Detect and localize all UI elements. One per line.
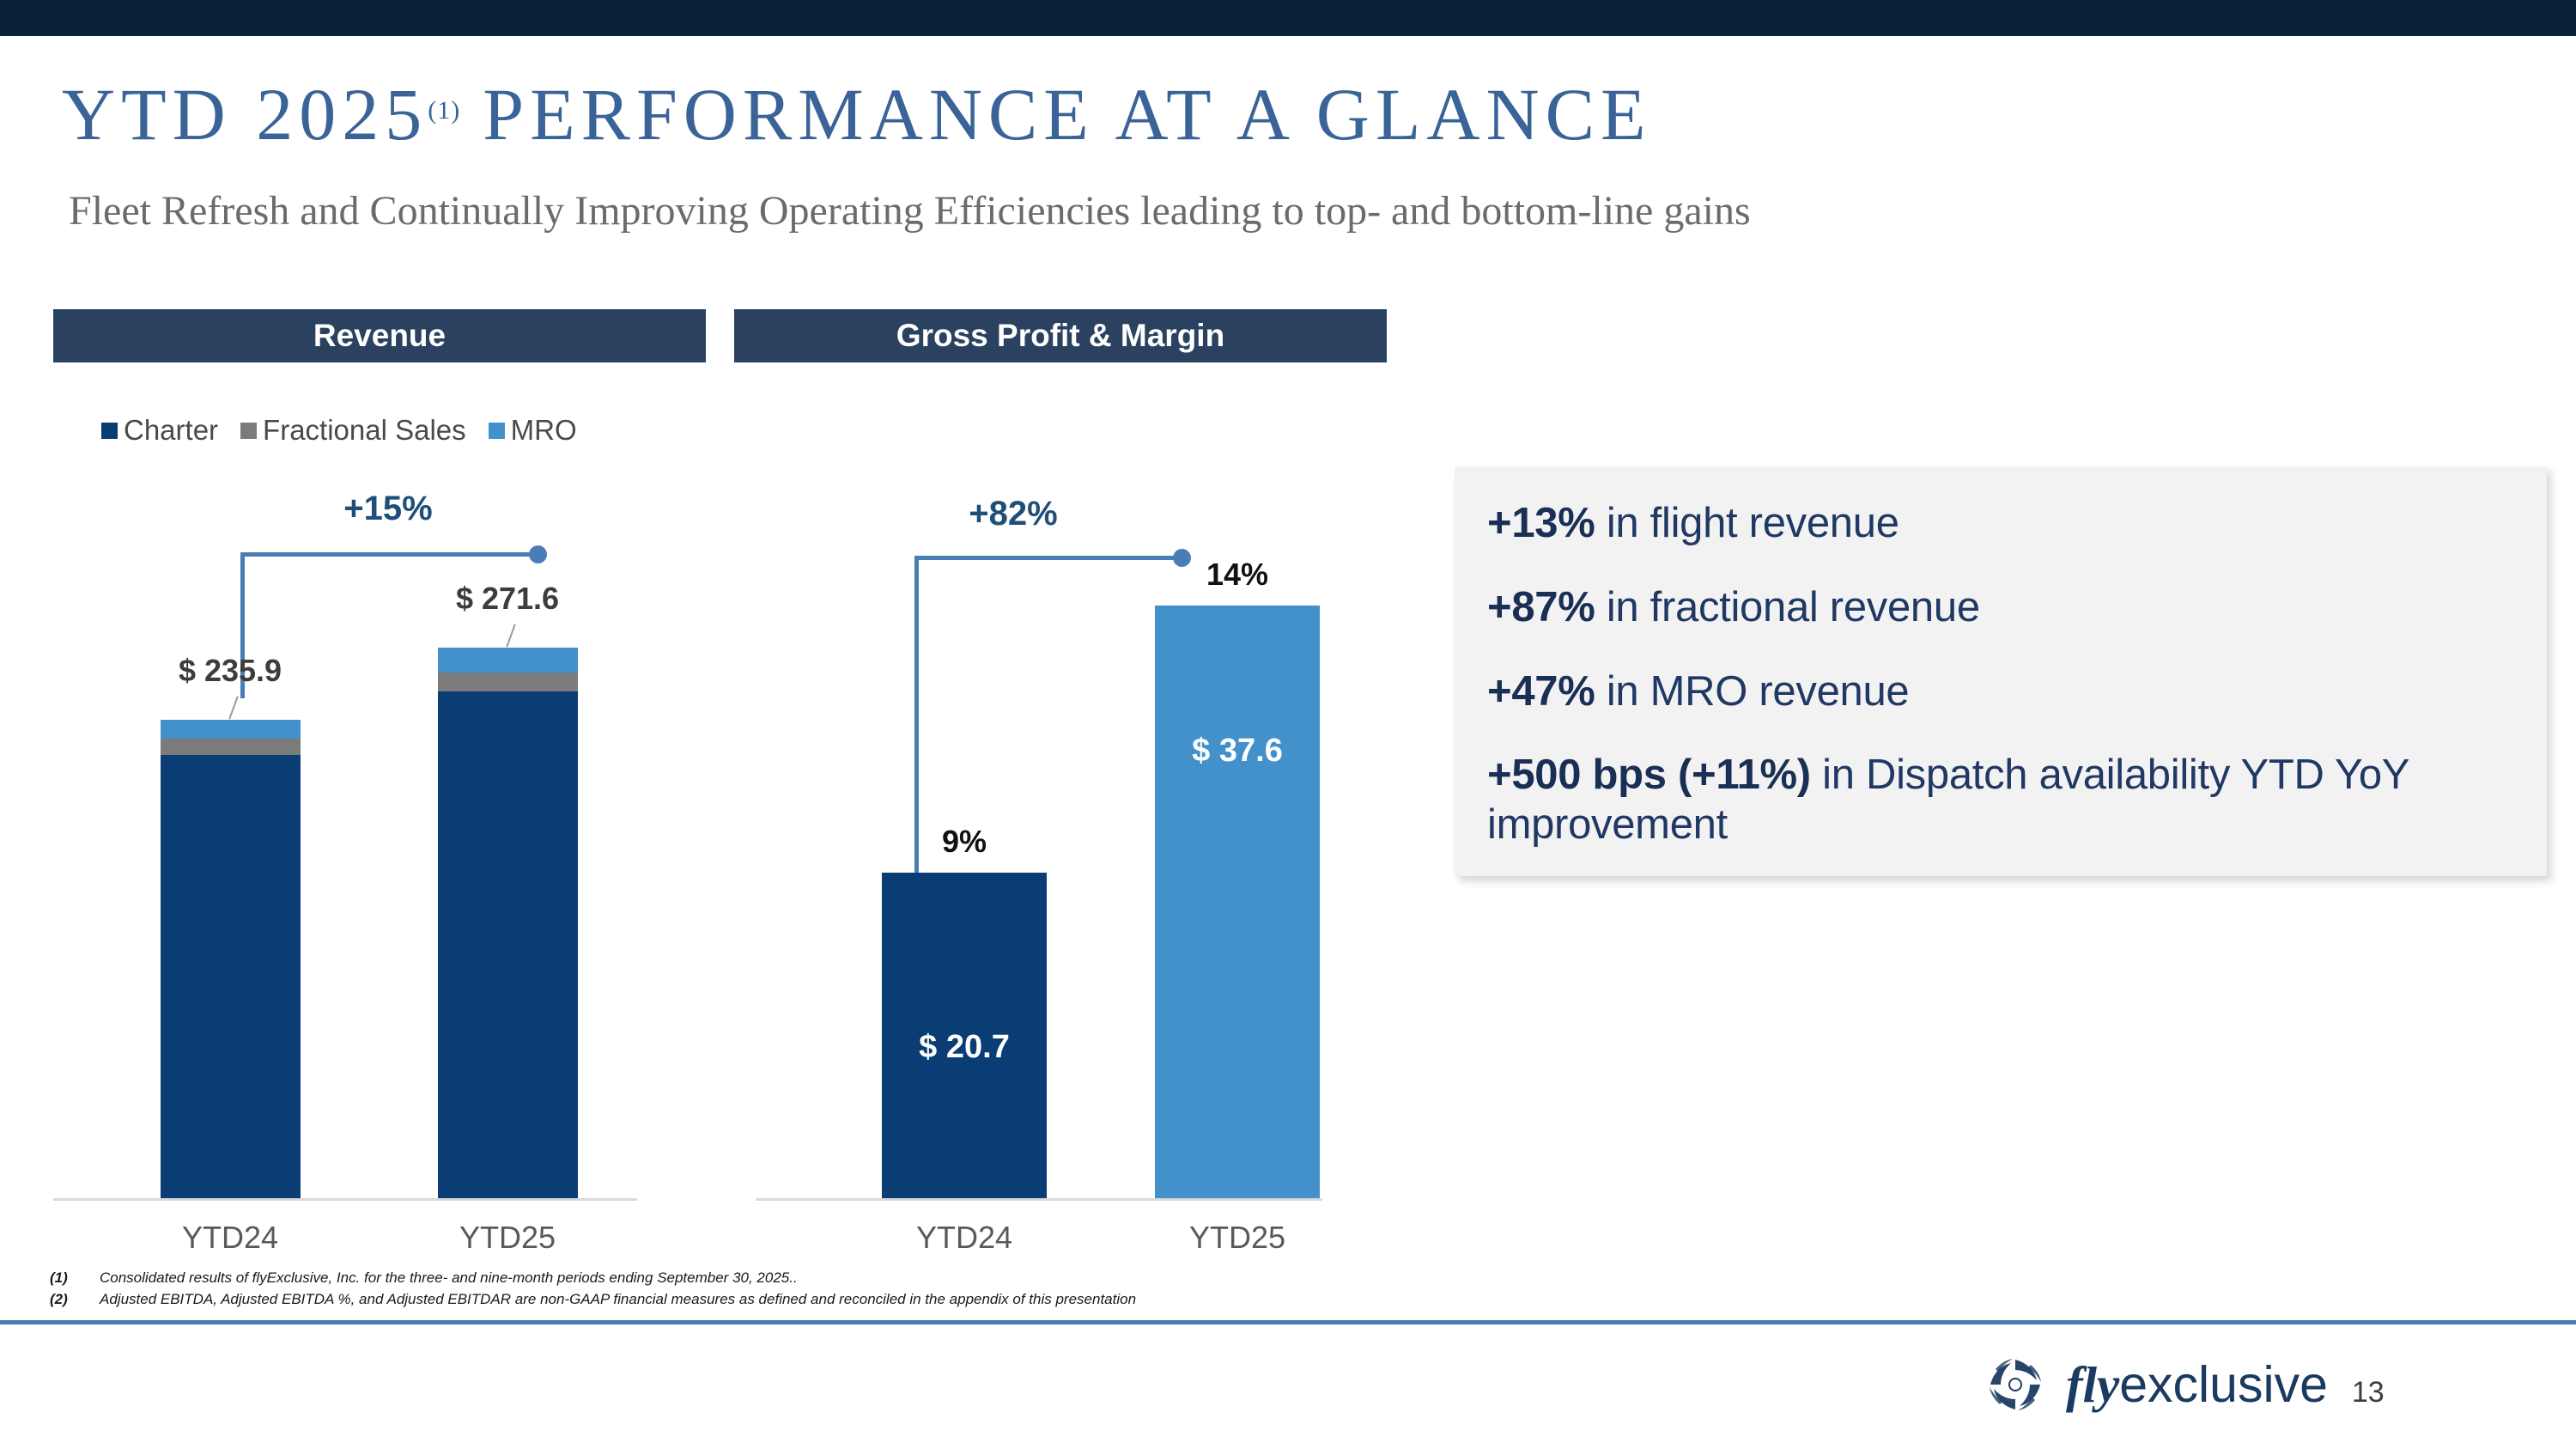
page-title-part2: PERFORMANCE AT A GLANCE (483, 77, 1651, 151)
revenue-bar-ytd25-seg-charter (438, 691, 578, 1198)
revenue-growth-endpoint-dot (529, 545, 547, 563)
flyexclusive-wordmark: flyexclusive (2066, 1360, 2328, 1410)
flyexclusive-swirl-icon (1984, 1353, 2047, 1416)
page-title-part1: YTD 2025 (62, 77, 428, 151)
legend-label-charter: Charter (124, 414, 218, 447)
section-header-revenue: Revenue (53, 309, 706, 362)
callout-text-fractional-revenue: in fractional revenue (1595, 584, 1980, 630)
gross-profit-chart: +82% 9% $ 20.7 14% $ 37.6 YTD24 YTD25 (756, 447, 1357, 1237)
footer-divider (0, 1320, 2576, 1324)
revenue-bar-ytd25-total-label: $ 271.6 (422, 581, 593, 617)
revenue-bar-ytd24-total-label: $ 235.9 (144, 653, 316, 689)
logo-word-exclusive: exclusive (2119, 1356, 2328, 1413)
page-subtitle: Fleet Refresh and Continually Improving … (69, 187, 1751, 234)
legend-item-charter: Charter (101, 414, 218, 447)
revenue-bar-ytd25-seg-fractional (438, 673, 578, 691)
revenue-bar-ytd25 (438, 648, 578, 1198)
footnote-number-2: (2) (50, 1291, 100, 1308)
callout-metric-dispatch-availability: +500 bps (+11%) (1487, 752, 1811, 798)
page-number: 13 (2352, 1376, 2385, 1416)
gross-profit-bar-ytd25 (1155, 606, 1320, 1198)
callout-text-mro-revenue: in MRO revenue (1595, 668, 1910, 715)
gross-profit-xlabel-ytd24: YTD24 (878, 1220, 1050, 1256)
callout-text-flight-revenue: in flight revenue (1595, 500, 1899, 546)
callout-line-flight-revenue: +13% in flight revenue (1487, 499, 2512, 549)
gross-profit-growth-label: +82% (927, 495, 1099, 533)
legend-label-fractional-sales: Fractional Sales (263, 414, 466, 447)
callout-line-mro-revenue: +47% in MRO revenue (1487, 667, 2512, 717)
callout-metric-fractional-revenue: +87% (1487, 584, 1595, 630)
revenue-growth-horizontal-line (240, 552, 537, 557)
logo-word-fly: fly (2066, 1356, 2119, 1413)
footnote-row-2: (2) Adjusted EBITDA, Adjusted EBITDA %, … (50, 1291, 1136, 1308)
page-title: YTD 2025(1)PERFORMANCE AT A GLANCE (62, 77, 2466, 151)
gross-profit-xlabel-ytd25: YTD25 (1151, 1220, 1323, 1256)
revenue-bar-ytd24-seg-fractional (161, 739, 301, 755)
legend-swatch-charter (101, 423, 118, 439)
callout-metric-flight-revenue: +13% (1487, 500, 1595, 546)
footnote-text-2: Adjusted EBITDA, Adjusted EBITDA %, and … (100, 1291, 1136, 1308)
legend-item-fractional-sales: Fractional Sales (240, 414, 466, 447)
revenue-bar-ytd24-seg-charter (161, 755, 301, 1198)
revenue-bar-ytd25-seg-mro (438, 648, 578, 673)
gross-profit-value-label-ytd24: $ 20.7 (878, 1029, 1050, 1066)
callout-line-dispatch-availability: +500 bps (+11%) in Dispatch availability… (1487, 751, 2512, 850)
page-title-footnote-marker: (1) (428, 96, 460, 125)
gross-profit-value-label-ytd25: $ 37.6 (1151, 733, 1323, 770)
section-header-gross-profit: Gross Profit & Margin (734, 309, 1387, 362)
gross-profit-growth-horizontal-line (914, 556, 1181, 560)
callout-metric-mro-revenue: +47% (1487, 668, 1595, 715)
footnote-text-1: Consolidated results of flyExclusive, In… (100, 1269, 798, 1287)
gross-profit-margin-label-ytd25: 14% (1151, 557, 1323, 593)
footnotes: (1) Consolidated results of flyExclusive… (50, 1269, 1136, 1312)
footnote-row-1: (1) Consolidated results of flyExclusive… (50, 1269, 1136, 1287)
footer-logo: flyexclusive 13 (1984, 1353, 2385, 1416)
revenue-bar-ytd24-seg-mro (161, 720, 301, 739)
gross-profit-margin-label-ytd24: 9% (878, 824, 1050, 860)
highlights-callout-card: +13% in flight revenue +87% in fractiona… (1455, 466, 2547, 876)
revenue-chart: +15% $ 235.9 $ 271.6 YTD24 YTD25 (53, 447, 706, 1237)
revenue-growth-label: +15% (302, 490, 474, 528)
revenue-xlabel-ytd25: YTD25 (422, 1220, 593, 1256)
top-accent-bar (0, 0, 2576, 36)
legend-item-mro: MRO (489, 414, 577, 447)
gross-profit-chart-axis (756, 1198, 1322, 1201)
revenue-bar-ytd24-leader-line (228, 697, 238, 720)
revenue-bar-ytd25-leader-line (506, 624, 515, 648)
footnote-number-1: (1) (50, 1269, 100, 1287)
legend-swatch-fractional-sales (240, 423, 257, 439)
callout-line-fractional-revenue: +87% in fractional revenue (1487, 583, 2512, 633)
legend-swatch-mro (489, 423, 505, 439)
revenue-chart-axis (53, 1198, 637, 1201)
revenue-xlabel-ytd24: YTD24 (144, 1220, 316, 1256)
revenue-bar-ytd24 (161, 720, 301, 1198)
legend-label-mro: MRO (511, 414, 577, 447)
revenue-chart-legend: Charter Fractional Sales MRO (101, 414, 577, 447)
